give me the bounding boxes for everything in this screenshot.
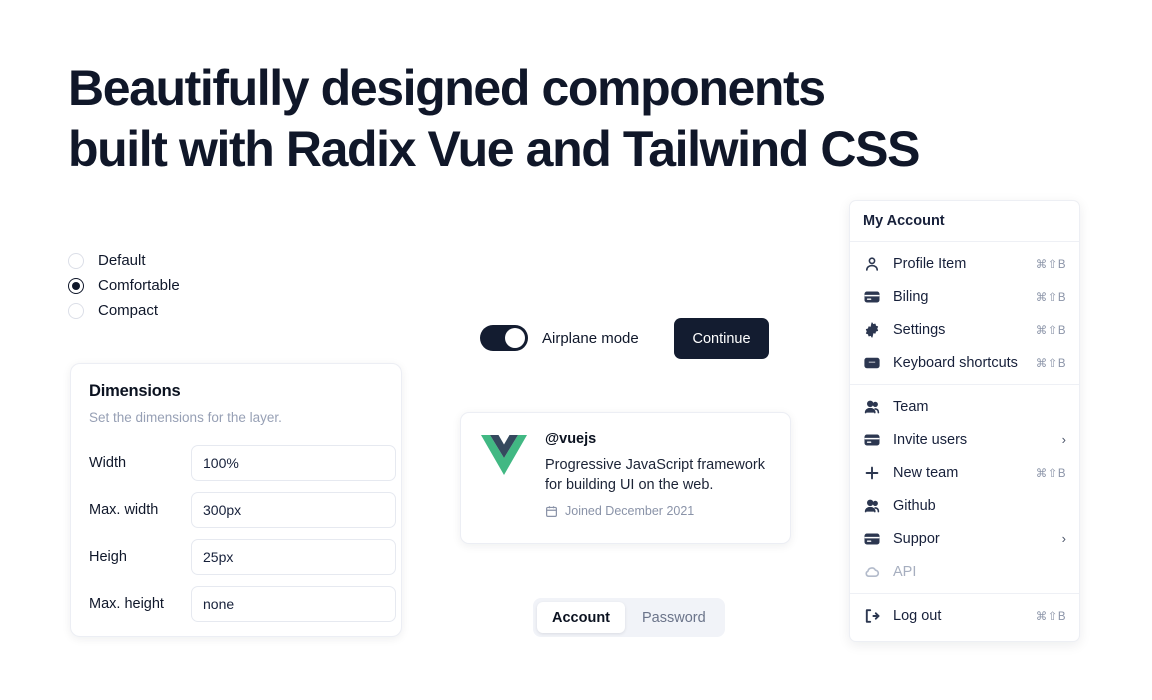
menu-groups: Profile Item⌘⇧BBiling⌘⇧BSettings⌘⇧BKeybo… [850, 242, 1079, 637]
credit-card-icon [863, 530, 880, 547]
cloud-icon [863, 563, 880, 580]
vue-hover-card: @vuejs Progressive JavaScript framework … [460, 412, 791, 544]
tab-password[interactable]: Password [627, 602, 721, 633]
density-radio-group: DefaultComfortableCompact [68, 248, 180, 323]
menu-item-keyboard-shortcuts[interactable]: Keyboard shortcuts⌘⇧B [850, 346, 1079, 379]
menu-item-shortcut: ⌘⇧B [1036, 290, 1066, 304]
menu-item-label: Keyboard shortcuts [893, 355, 1036, 371]
menu-item-label: Log out [893, 608, 1036, 624]
airplane-mode-row: Airplane mode [480, 325, 639, 351]
airplane-mode-switch[interactable] [480, 325, 528, 351]
dimension-input-0[interactable] [191, 445, 396, 481]
menu-item-shortcut: ⌘⇧B [1036, 609, 1066, 623]
page-title: Beautifully designed components built wi… [68, 58, 1028, 180]
tab-account[interactable]: Account [537, 602, 625, 633]
plus-icon [863, 464, 880, 481]
headline-line-1: Beautifully designed components [68, 60, 825, 116]
airplane-mode-label: Airplane mode [542, 330, 639, 347]
menu-item-log-out[interactable]: Log out⌘⇧B [850, 599, 1079, 632]
credit-card-icon [863, 288, 880, 305]
dimension-row: Max. height [89, 580, 383, 627]
menu-item-github[interactable]: Github [850, 489, 1079, 522]
menu-item-label: Suppor [893, 531, 1062, 547]
dimensions-card: Dimensions Set the dimensions for the la… [70, 363, 402, 637]
dimension-input-3[interactable] [191, 586, 396, 622]
switch-knob [505, 328, 525, 348]
settings-tabs: AccountPassword [533, 598, 725, 637]
dimension-label: Width [89, 455, 191, 471]
vue-joined-text: Joined December 2021 [565, 504, 694, 518]
menu-item-label: Github [893, 498, 1066, 514]
headline-line-2: built with Radix Vue and Tailwind CSS [68, 119, 1028, 180]
dimensions-subtitle: Set the dimensions for the layer. [89, 410, 383, 425]
radio-indicator[interactable] [68, 278, 84, 294]
menu-item-invite-users[interactable]: Invite users› [850, 423, 1079, 456]
credit-card-icon [863, 431, 880, 448]
menu-item-api: API [850, 555, 1079, 588]
menu-item-label: Biling [893, 289, 1036, 305]
menu-item-settings[interactable]: Settings⌘⇧B [850, 313, 1079, 346]
users-icon [863, 398, 880, 415]
keyboard-icon [863, 354, 880, 371]
dimension-label: Max. height [89, 596, 191, 612]
dimension-input-2[interactable] [191, 539, 396, 575]
menu-item-label: Invite users [893, 432, 1062, 448]
dimension-label: Max. width [89, 502, 191, 518]
menu-item-label: Profile Item [893, 256, 1036, 272]
menu-item-profile-item[interactable]: Profile Item⌘⇧B [850, 247, 1079, 280]
radio-option-default[interactable]: Default [68, 248, 180, 273]
dimension-row: Width [89, 439, 383, 486]
dimension-input-1[interactable] [191, 492, 396, 528]
menu-item-suppor[interactable]: Suppor› [850, 522, 1079, 555]
menu-item-biling[interactable]: Biling⌘⇧B [850, 280, 1079, 313]
menu-item-team[interactable]: Team [850, 390, 1079, 423]
menu-item-label: Team [893, 399, 1066, 415]
dimension-label: Heigh [89, 549, 191, 565]
calendar-icon [545, 505, 558, 518]
page-root: Beautifully designed components built wi… [0, 0, 1152, 700]
menu-item-shortcut: ⌘⇧B [1036, 356, 1066, 370]
dimension-row: Heigh [89, 533, 383, 580]
radio-indicator[interactable] [68, 303, 84, 319]
user-icon [863, 255, 880, 272]
menu-group: Profile Item⌘⇧BBiling⌘⇧BSettings⌘⇧BKeybo… [850, 242, 1079, 384]
vue-joined-row: Joined December 2021 [545, 504, 772, 518]
dimensions-title: Dimensions [89, 382, 383, 401]
chevron-right-icon: › [1062, 433, 1066, 446]
continue-button[interactable]: Continue [674, 318, 769, 359]
account-dropdown-menu: My Account Profile Item⌘⇧BBiling⌘⇧BSetti… [849, 200, 1080, 642]
radio-label: Default [98, 252, 146, 269]
menu-item-shortcut: ⌘⇧B [1036, 466, 1066, 480]
radio-label: Compact [98, 302, 158, 319]
menu-group: Log out⌘⇧B [850, 594, 1079, 637]
menu-header: My Account [850, 201, 1079, 241]
radio-label: Comfortable [98, 277, 180, 294]
menu-item-shortcut: ⌘⇧B [1036, 323, 1066, 337]
menu-item-label: API [893, 564, 1066, 580]
menu-item-label: Settings [893, 322, 1036, 338]
vue-logo-icon [481, 435, 527, 477]
radio-option-compact[interactable]: Compact [68, 298, 180, 323]
hover-card-body: @vuejs Progressive JavaScript framework … [545, 431, 772, 543]
vue-description: Progressive JavaScript framework for bui… [545, 456, 772, 495]
chevron-right-icon: › [1062, 532, 1066, 545]
users-icon [863, 497, 880, 514]
menu-item-new-team[interactable]: New team⌘⇧B [850, 456, 1079, 489]
menu-item-shortcut: ⌘⇧B [1036, 257, 1066, 271]
menu-item-label: New team [893, 465, 1036, 481]
vue-handle: @vuejs [545, 431, 772, 447]
dimensions-fields: WidthMax. widthHeighMax. height [89, 439, 383, 627]
radio-option-comfortable[interactable]: Comfortable [68, 273, 180, 298]
radio-indicator[interactable] [68, 253, 84, 269]
dimension-row: Max. width [89, 486, 383, 533]
logout-icon [863, 607, 880, 624]
menu-group: TeamInvite users›New team⌘⇧BGithubSuppor… [850, 385, 1079, 593]
gear-icon [863, 321, 880, 338]
